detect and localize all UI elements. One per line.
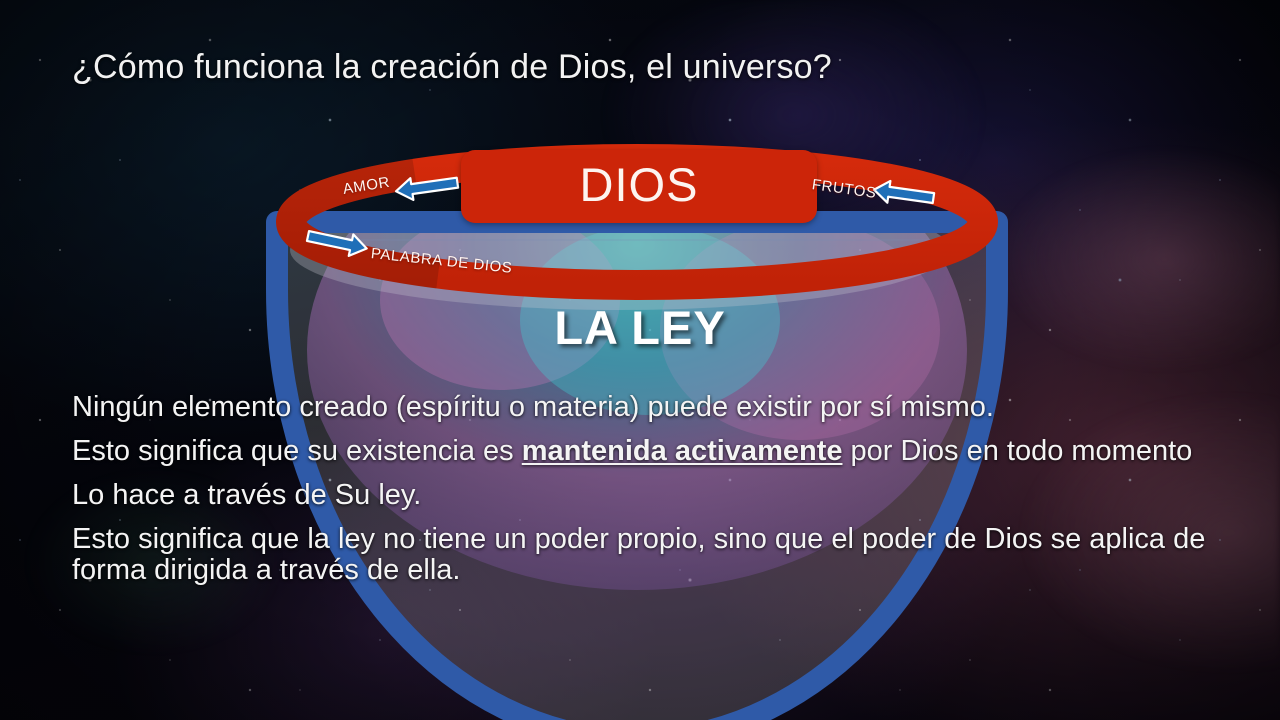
body-text-block: Ningún elemento creado (espíritu o mater… bbox=[72, 392, 1212, 585]
body-text-run: Esto significa que la ley no tiene un po… bbox=[72, 523, 1205, 585]
body-text-run: Lo hace a través de Su ley. bbox=[72, 479, 421, 511]
body-line: Esto significa que su existencia es mant… bbox=[72, 436, 1212, 466]
body-text-run: Esto significa que su existencia es bbox=[72, 435, 522, 467]
law-diagram: DIOS AMOR FRUTOS PALABRA DE DIOS LA LEY bbox=[0, 0, 1280, 720]
diagram-svg bbox=[0, 0, 1280, 720]
bowl-heading: LA LEY bbox=[0, 300, 1280, 355]
slide-canvas: ¿Cómo funciona la creación de Dios, el u… bbox=[0, 0, 1280, 720]
body-text-run: Ningún elemento creado (espíritu o mater… bbox=[72, 391, 994, 423]
body-line: Esto significa que la ley no tiene un po… bbox=[72, 524, 1212, 584]
body-line: Ningún elemento creado (espíritu o mater… bbox=[72, 392, 1212, 422]
body-line: Lo hace a través de Su ley. bbox=[72, 480, 1212, 510]
dios-box[interactable]: DIOS bbox=[461, 150, 817, 223]
emphasis-text: mantenida activamente bbox=[522, 435, 843, 467]
body-text-run: por Dios en todo momento bbox=[842, 435, 1192, 467]
dios-label: DIOS bbox=[580, 161, 699, 212]
